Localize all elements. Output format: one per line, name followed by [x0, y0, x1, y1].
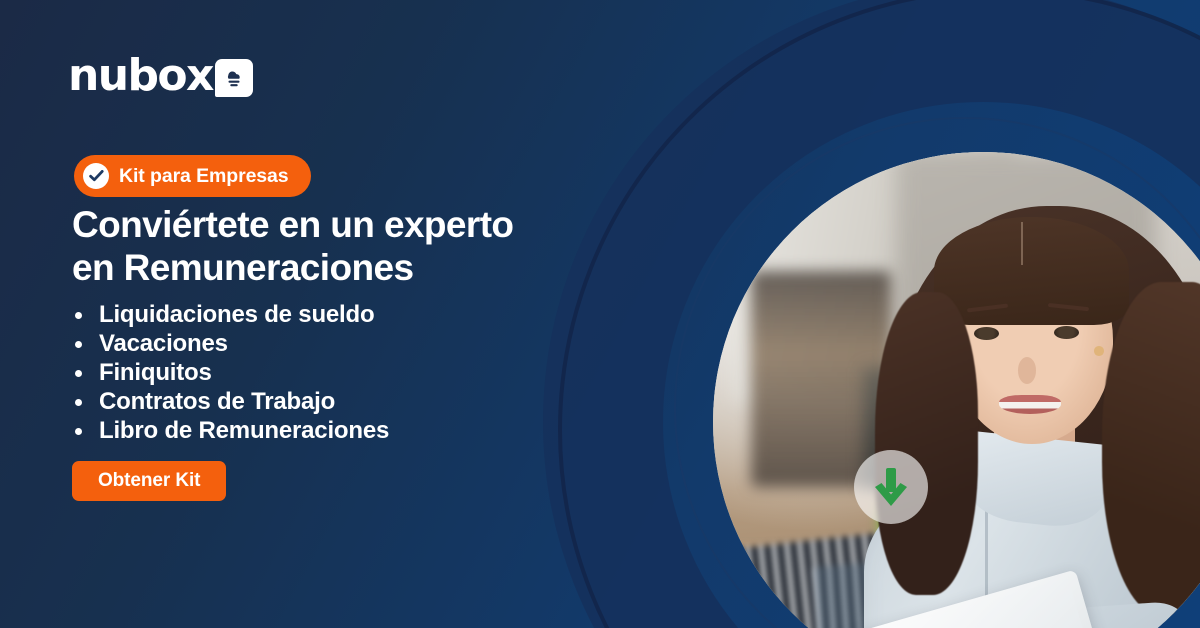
- download-arrow-icon: [871, 466, 911, 508]
- feature-list: Liquidaciones de sueldo Vacaciones Finiq…: [72, 300, 592, 445]
- headline-line-1: Conviértete en un experto: [72, 204, 632, 247]
- hero-photo: [713, 152, 1200, 628]
- kit-badge: Kit para Empresas: [74, 155, 311, 197]
- cloud-document-icon: [215, 59, 253, 97]
- promo-banner: nubox Kit para Empresas Conviértete en u…: [0, 0, 1200, 628]
- headline-line-2: en Remuneraciones: [72, 247, 632, 290]
- list-item: Finiquitos: [72, 358, 592, 387]
- kit-badge-label: Kit para Empresas: [119, 165, 289, 188]
- obtener-kit-button[interactable]: Obtener Kit: [72, 461, 226, 501]
- list-item: Vacaciones: [72, 329, 592, 358]
- list-item: Libro de Remuneraciones: [72, 416, 592, 445]
- download-badge[interactable]: [854, 450, 928, 524]
- check-circle-icon: [83, 163, 109, 189]
- logo-wordmark: nubox: [68, 54, 213, 98]
- list-item: Contratos de Trabajo: [72, 387, 592, 416]
- list-item: Liquidaciones de sueldo: [72, 300, 592, 329]
- nubox-logo[interactable]: nubox: [68, 52, 253, 100]
- page-title: Conviértete en un experto en Remuneracio…: [72, 204, 632, 290]
